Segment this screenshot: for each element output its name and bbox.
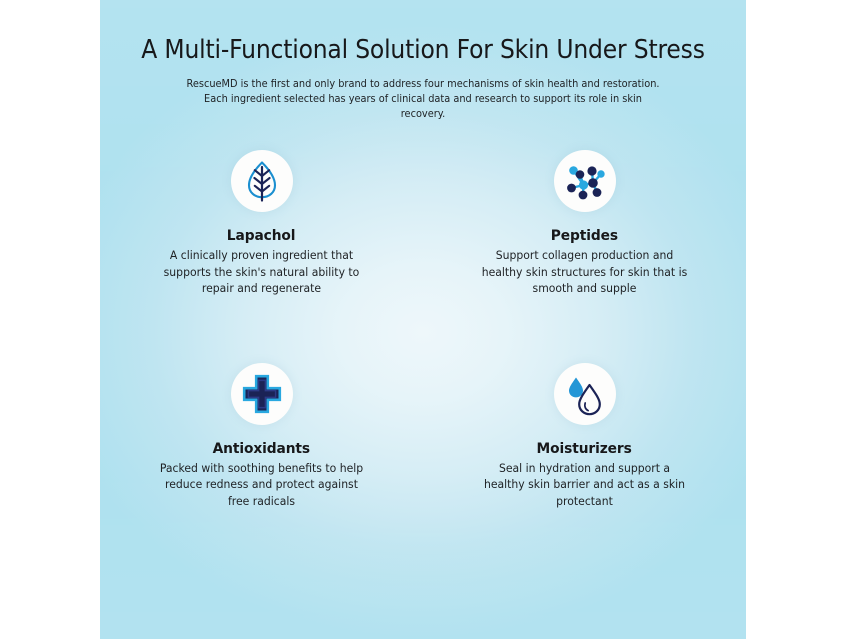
feature-card-lapachol: Lapachol A clinically proven ingredient … <box>100 150 423 298</box>
feature-grid: Lapachol A clinically proven ingredient … <box>100 150 746 511</box>
feature-card-antioxidants: Antioxidants Packed with soothing benefi… <box>100 363 423 511</box>
page-title: A Multi-Functional Solution For Skin Und… <box>126 36 720 65</box>
feature-row-2: Antioxidants Packed with soothing benefi… <box>100 363 746 511</box>
leaf-icon-badge <box>231 150 293 212</box>
feature-title: Antioxidants <box>213 441 310 457</box>
feature-description: Seal in hydration and support a healthy … <box>481 461 687 511</box>
feature-title: Moisturizers <box>537 441 632 457</box>
feature-card-moisturizers: Moisturizers Seal in hydration and suppo… <box>423 363 746 511</box>
feature-row-1: Lapachol A clinically proven ingredient … <box>100 150 746 298</box>
molecule-icon-badge <box>554 150 616 212</box>
water-droplets-icon-badge <box>554 363 616 425</box>
feature-card-peptides: Peptides Support collagen production and… <box>423 150 746 298</box>
feature-description: A clinically proven ingredient that supp… <box>158 248 364 298</box>
feature-title: Peptides <box>551 228 618 244</box>
medical-cross-icon <box>242 374 282 414</box>
feature-title: Lapachol <box>227 228 296 244</box>
header-block: A Multi-Functional Solution For Skin Und… <box>100 36 746 123</box>
feature-description: Support collagen production and healthy … <box>481 248 687 298</box>
leaf-icon <box>242 159 282 203</box>
water-droplets-icon <box>563 372 607 416</box>
molecule-icon <box>563 159 607 203</box>
feature-description: Packed with soothing benefits to help re… <box>158 461 364 511</box>
medical-cross-icon-badge <box>231 363 293 425</box>
infographic-canvas: A Multi-Functional Solution For Skin Und… <box>0 0 852 639</box>
content-panel: A Multi-Functional Solution For Skin Und… <box>100 0 746 639</box>
page-subtitle: RescueMD is the first and only brand to … <box>183 78 663 122</box>
